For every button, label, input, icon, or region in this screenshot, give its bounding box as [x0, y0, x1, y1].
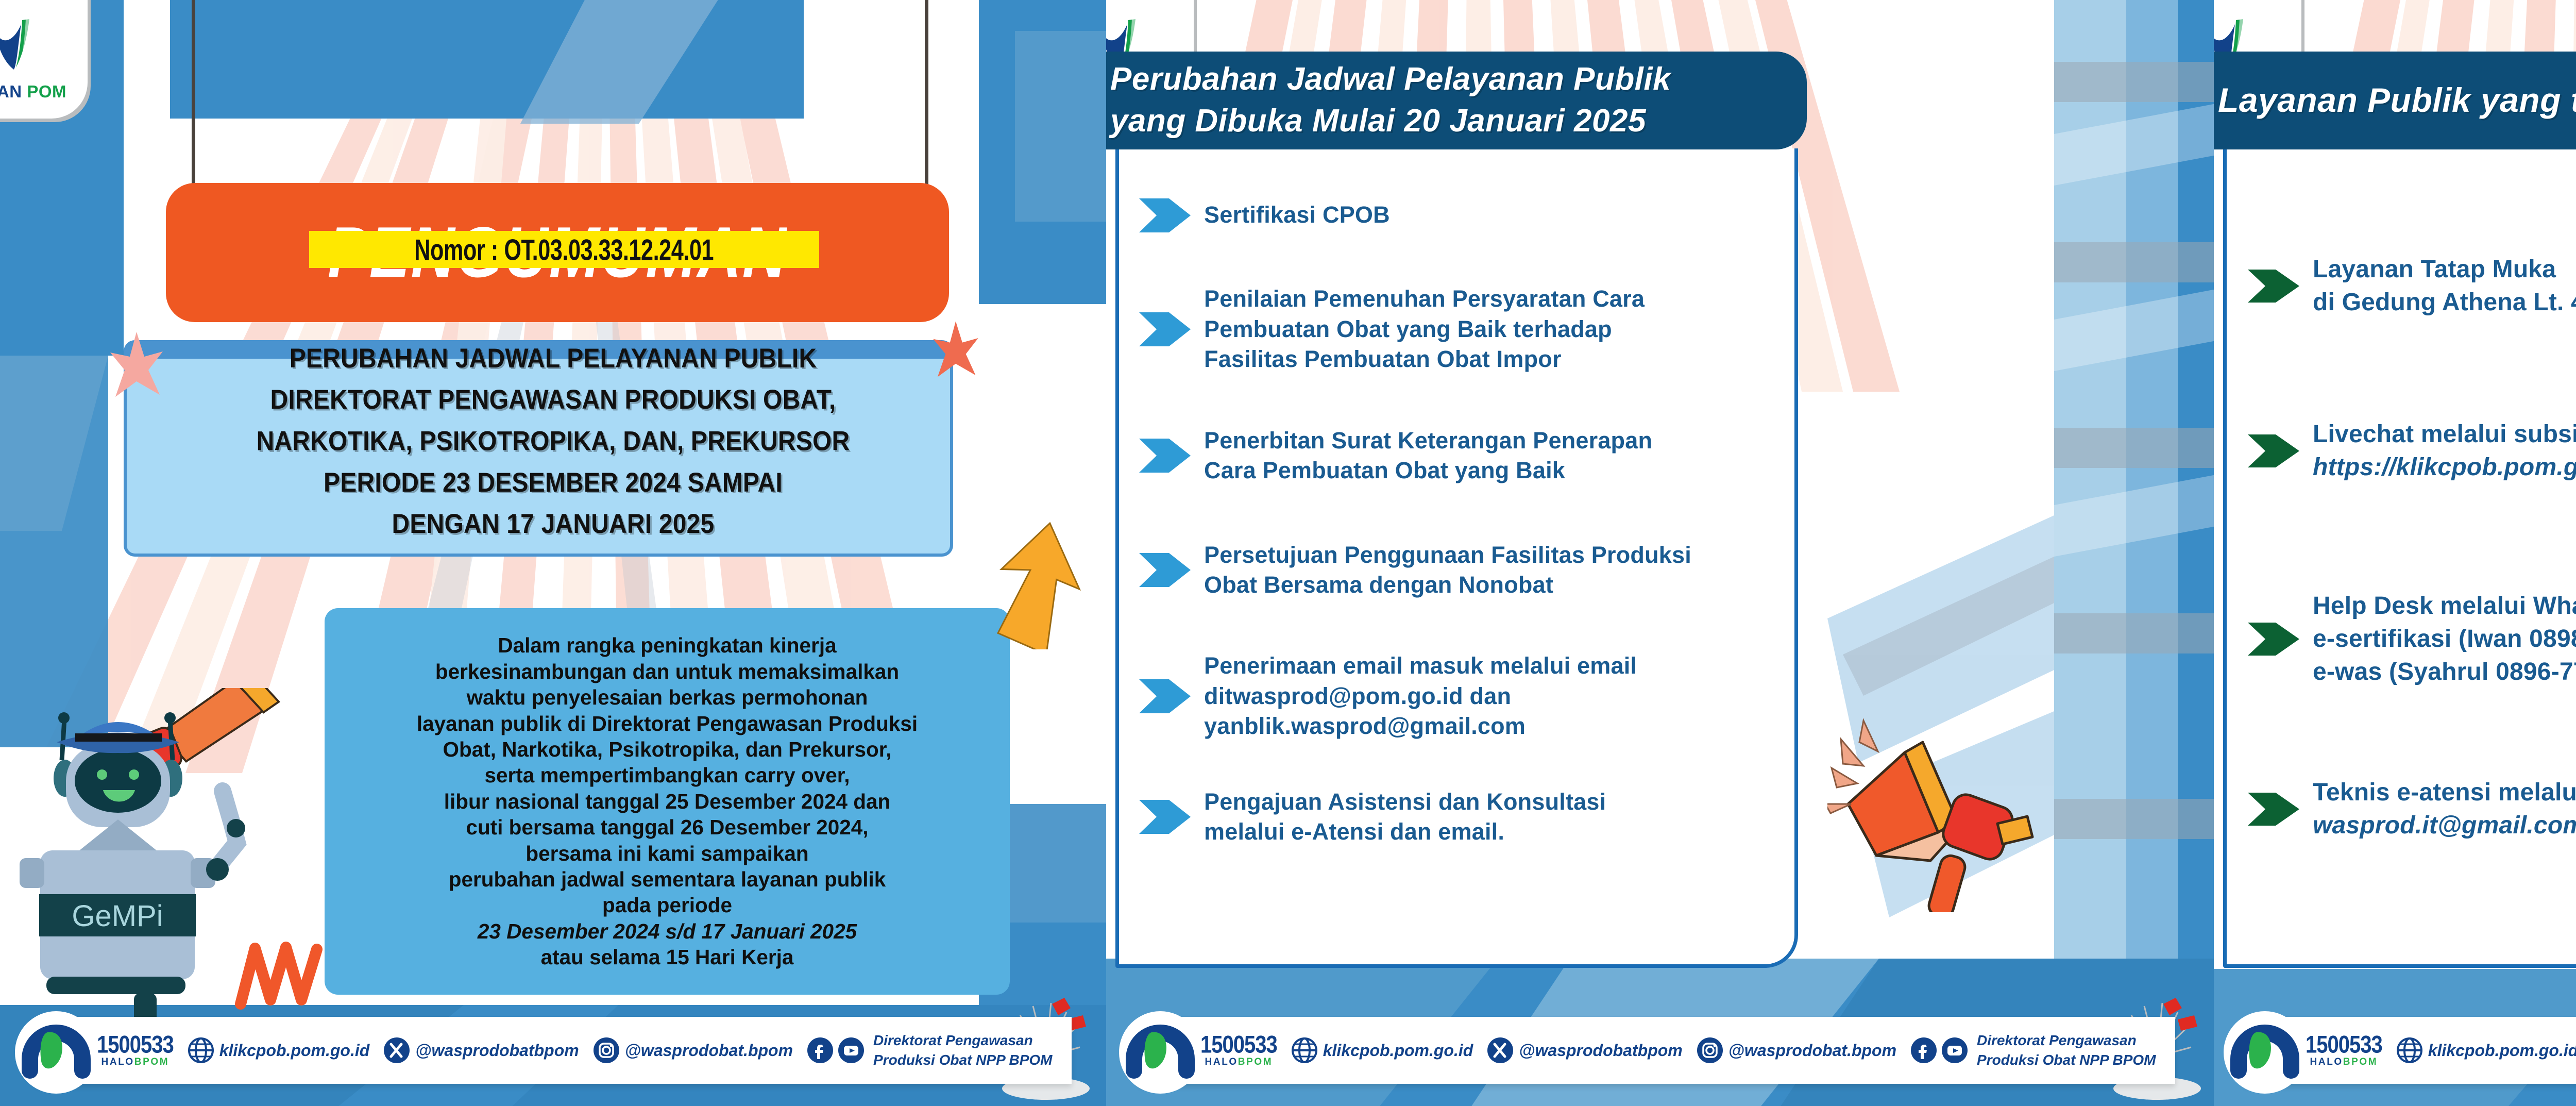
- halo-bpom-headset-badge: [2220, 1008, 2310, 1098]
- hotline-block: 1500533 HALOBPOM: [97, 1034, 174, 1067]
- globe-icon: [187, 1036, 215, 1064]
- panel2-bullet-list: Sertifikasi CPOB Penilaian Pemenuhan Per…: [1137, 170, 1797, 868]
- nomor-chip: Nomor : OT.03.03.33.12.24.01: [309, 231, 819, 268]
- list-line: Penilaian Pemenuhan Persyaratan Cara: [1204, 284, 1645, 314]
- bpom-shield-icon: [0, 14, 41, 76]
- panel-layanan-berjalan: BADAN POM Layanan Publik yang tetap berj…: [2214, 0, 2576, 1106]
- logo-word-badan: BADAN: [0, 82, 22, 101]
- x-twitter-icon: [383, 1036, 411, 1064]
- instagram-item[interactable]: @wasprodobat.bpom: [1696, 1036, 1896, 1064]
- instagram-item[interactable]: @wasprodobat.bpom: [592, 1036, 793, 1064]
- para-period-bold: 23 Desember 2024 s/d 17 Januari 2025: [478, 919, 857, 943]
- headline-line-3: NARKOTIKA, PSIKOTROPIKA, DAN, PREKURSOR: [0, 421, 1106, 462]
- website-label: klikcpob.pom.go.id: [2428, 1041, 2576, 1060]
- mascot-label: GeMPi: [72, 899, 163, 933]
- list-line: Teknis e-atensi melalui e-mail: [2313, 776, 2576, 809]
- footer-ribbon: 1500533 HALOBPOM klikcpob.pom.go.id: [1140, 1017, 2175, 1084]
- facebook-icon: [806, 1036, 834, 1064]
- paragraph-body: Dalam rangka peningkatan kinerja berkesi…: [417, 632, 918, 970]
- green-arrow-icon: [2245, 616, 2302, 662]
- para-line-3: waktu penyelesaian berkas permohonan: [467, 685, 868, 709]
- department-name: Direktorat Pengawasan Produksi Obat NPP …: [1977, 1031, 2156, 1070]
- para-line-11: pada periode: [602, 893, 732, 917]
- headline-line-1: PERUBAHAN JADWAL PELAYANAN PUBLIK: [0, 339, 1106, 380]
- list-line: Sertifikasi CPOB: [1204, 200, 1390, 230]
- list-item-text: Pengajuan Asistensi dan Konsultasi melal…: [1204, 787, 1606, 847]
- website-item[interactable]: klikcpob.pom.go.id: [2396, 1036, 2576, 1064]
- green-arrow-icon: [2245, 786, 2302, 832]
- hotline-block: 1500533 HALOBPOM: [2306, 1034, 2382, 1067]
- hotline-block: 1500533 HALOBPOM: [1200, 1034, 1277, 1067]
- dept-line-2: Produksi Obat NPP BPOM: [873, 1050, 1052, 1070]
- list-line: Cara Pembuatan Obat yang Baik: [1204, 456, 1652, 486]
- list-line: Help Desk melalui Whatsapp: [2313, 590, 2576, 623]
- para-tail: atau selama 15 Hari Kerja: [541, 945, 794, 969]
- globe-icon: [1291, 1036, 1318, 1064]
- panel3-bullet-list: Layanan Tatap Muka di Gedung Athena Lt. …: [2245, 206, 2576, 876]
- website-item[interactable]: klikcpob.pom.go.id: [187, 1036, 370, 1064]
- logo-word-pom: POM: [27, 82, 66, 101]
- panel3-heading-line-1: Layanan Publik yang tetap berjalan: [2218, 78, 2576, 123]
- bpom-logo-card: BADAN POM: [0, 0, 88, 119]
- list-item: Teknis e-atensi melalui e-mail wasprod.i…: [2245, 742, 2576, 876]
- list-line: Pembuatan Obat yang Baik terhadap: [1204, 314, 1645, 345]
- facebook-icon: [1910, 1036, 1938, 1064]
- list-item-text: Livechat melalui subsite https://klikcpo…: [2313, 418, 2576, 484]
- para-line-5: Obat, Narkotika, Psikotropika, dan Preku…: [443, 738, 891, 761]
- list-line-url: https://klikcpob.pom.go.id,: [2313, 451, 2576, 484]
- list-line: Pengajuan Asistensi dan Konsultasi: [1204, 787, 1606, 817]
- dept-line-1: Direktorat Pengawasan: [1977, 1031, 2156, 1050]
- list-item: Penerimaan email masuk melalui email dit…: [1137, 627, 1797, 765]
- website-label: klikcpob.pom.go.id: [1323, 1041, 1473, 1060]
- list-item-text: Penilaian Pemenuhan Persyaratan Cara Pem…: [1204, 284, 1645, 375]
- list-line: di Gedung Athena Lt. 4,: [2313, 286, 2576, 319]
- list-line: Layanan Tatap Muka: [2313, 253, 2576, 286]
- list-item: Penilaian Pemenuhan Persyaratan Cara Pem…: [1137, 260, 1797, 398]
- x-twitter-icon: [1486, 1036, 1514, 1064]
- list-item: Sertifikasi CPOB: [1137, 170, 1797, 260]
- list-item: Persetujuan Penggunaan Fasilitas Produks…: [1137, 513, 1797, 627]
- list-line: Penerbitan Surat Keterangan Penerapan: [1204, 426, 1652, 456]
- panel2-heading-line-2: yang Dibuka Mulai 20 Januari 2025: [1110, 100, 1671, 142]
- instagram-icon: [1696, 1036, 1724, 1064]
- list-item: Penerbitan Surat Keterangan Penerapan Ca…: [1137, 398, 1797, 513]
- hotline-number: 1500533: [97, 1032, 174, 1057]
- orange-squiggle-icon: [234, 938, 327, 1010]
- list-item-text: Persetujuan Penggunaan Fasilitas Produks…: [1204, 540, 1691, 600]
- list-item-text: Sertifikasi CPOB: [1204, 200, 1390, 230]
- blue-arrow-icon: [1137, 548, 1194, 592]
- list-item: Help Desk melalui Whatsapp e-sertifikasi…: [2245, 536, 2576, 742]
- panel-jadwal-dibuka: BADAN POM Perubahan Jadwal Pelayanan Pub…: [1106, 0, 2214, 1106]
- paragraph-card: Dalam rangka peningkatan kinerja berkesi…: [325, 608, 1010, 995]
- department-name: Direktorat Pengawasan Produksi Obat NPP …: [873, 1031, 1052, 1070]
- blue-arrow-icon: [1137, 307, 1194, 351]
- headline-block: PERUBAHAN JADWAL PELAYANAN PUBLIK DIREKT…: [0, 339, 1106, 545]
- youtube-icon: [1941, 1036, 1969, 1064]
- list-line: Livechat melalui subsite: [2313, 418, 2576, 451]
- blue-arrow-icon: [1137, 433, 1194, 478]
- instagram-handle-label: @wasprodobat.bpom: [1728, 1041, 1896, 1060]
- para-line-7: libur nasional tanggal 25 Desember 2024 …: [444, 790, 891, 813]
- instagram-handle-label: @wasprodobat.bpom: [625, 1041, 793, 1060]
- list-item-text: Help Desk melalui Whatsapp e-sertifikasi…: [2313, 590, 2576, 688]
- para-line-8: cuti bersama tanggal 26 Desember 2024,: [466, 815, 868, 839]
- para-line-4: layanan publik di Direktorat Pengawasan …: [417, 712, 918, 735]
- panel-pengumuman: BADAN POM PENGUMUMAN Nomor : OT.03.03.33…: [0, 0, 1106, 1106]
- para-line-6: serta mempertimbangkan carry over,: [484, 763, 850, 787]
- list-line-email: wasprod.it@gmail.com: [2313, 809, 2576, 842]
- poster-root: BADAN POM PENGUMUMAN Nomor : OT.03.03.33…: [0, 0, 2576, 1106]
- list-item: Layanan Tatap Muka di Gedung Athena Lt. …: [2245, 206, 2576, 366]
- nomor-text: Nomor : OT.03.03.33.12.24.01: [415, 232, 714, 266]
- list-line: ditwasprod@pom.go.id dan: [1204, 681, 1637, 712]
- halo-bpom-headset-badge: [1115, 1008, 1206, 1098]
- list-item-text: Teknis e-atensi melalui e-mail wasprod.i…: [2313, 776, 2576, 842]
- list-item-text: Penerimaan email masuk melalui email dit…: [1204, 651, 1637, 742]
- x-item[interactable]: @wasprodobatbpom: [383, 1036, 579, 1064]
- x-handle-label: @wasprodobatbpom: [1519, 1041, 1682, 1060]
- globe-icon: [2396, 1036, 2424, 1064]
- website-label: klikcpob.pom.go.id: [219, 1041, 370, 1060]
- panel2-heading-bar: Perubahan Jadwal Pelayanan Publik yang D…: [1106, 52, 1807, 149]
- dept-line-1: Direktorat Pengawasan: [873, 1031, 1052, 1050]
- para-line-1: Dalam rangka peningkatan kinerja: [498, 633, 836, 657]
- halo-bpom-headset-badge: [11, 1008, 101, 1098]
- para-line-10: perubahan jadwal sementara layanan publi…: [449, 867, 886, 891]
- website-item[interactable]: klikcpob.pom.go.id: [1291, 1036, 1473, 1064]
- list-line: e-was (Syahrul 0896-7757-8891),: [2313, 656, 2576, 689]
- x-item[interactable]: @wasprodobatbpom: [1486, 1036, 1682, 1064]
- megaphone-icon: [1827, 706, 2054, 912]
- blue-arrow-icon: [1137, 674, 1194, 718]
- blue-arrow-icon: [1137, 795, 1194, 839]
- green-arrow-icon: [2245, 263, 2302, 309]
- list-line: melalui e-Atensi dan email.: [1204, 817, 1606, 847]
- blue-arrow-icon: [1137, 193, 1194, 238]
- hotline-number: 1500533: [1200, 1032, 1277, 1057]
- para-line-2: berkesinambungan dan untuk memaksimalkan: [435, 660, 899, 683]
- panel2-heading-line-1: Perubahan Jadwal Pelayanan Publik: [1110, 59, 1671, 100]
- headline-line-5: DENGAN 17 JANUARI 2025: [0, 504, 1106, 545]
- list-item: Pengajuan Asistensi dan Konsultasi melal…: [1137, 765, 1797, 868]
- headline-line-2: DIREKTORAT PENGAWASAN PRODUKSI OBAT,: [0, 380, 1106, 421]
- footer-ribbon: 1500533 HALOBPOM klikcpob.pom.go.id: [36, 1017, 1072, 1084]
- panel2-heading-text: Perubahan Jadwal Pelayanan Publik yang D…: [1106, 59, 1671, 142]
- list-item-text: Layanan Tatap Muka di Gedung Athena Lt. …: [2313, 253, 2576, 319]
- list-line: yanblik.wasprod@gmail.com: [1204, 711, 1637, 742]
- x-handle-label: @wasprodobatbpom: [415, 1041, 579, 1060]
- list-line: Penerimaan email masuk melalui email: [1204, 651, 1637, 681]
- social-fb-yt-group[interactable]: [806, 1036, 865, 1064]
- list-item-text: Penerbitan Surat Keterangan Penerapan Ca…: [1204, 426, 1652, 486]
- panel3-heading-text: Layanan Publik yang tetap berjalan: [2214, 78, 2576, 123]
- list-line: e-sertifikasi (Iwan 0898-5321-216): [2313, 623, 2576, 656]
- hotline-number: 1500533: [2306, 1032, 2382, 1057]
- list-line: Fasilitas Pembuatan Obat Impor: [1204, 344, 1645, 375]
- para-line-9: bersama ini kami sampaikan: [526, 842, 808, 865]
- social-fb-yt-group[interactable]: [1910, 1036, 1969, 1064]
- list-item: Livechat melalui subsite https://klikcpo…: [2245, 366, 2576, 536]
- list-line: Obat Bersama dengan Nonobat: [1204, 570, 1691, 600]
- green-arrow-icon: [2245, 428, 2302, 474]
- panel3-heading-bar: Layanan Publik yang tetap berjalan: [2214, 52, 2576, 149]
- headline-line-4: PERIODE 23 DESEMBER 2024 SAMPAI: [0, 463, 1106, 504]
- dept-line-2: Produksi Obat NPP BPOM: [1977, 1050, 2156, 1070]
- list-line: Persetujuan Penggunaan Fasilitas Produks…: [1204, 540, 1691, 571]
- youtube-icon: [837, 1036, 865, 1064]
- instagram-icon: [592, 1036, 620, 1064]
